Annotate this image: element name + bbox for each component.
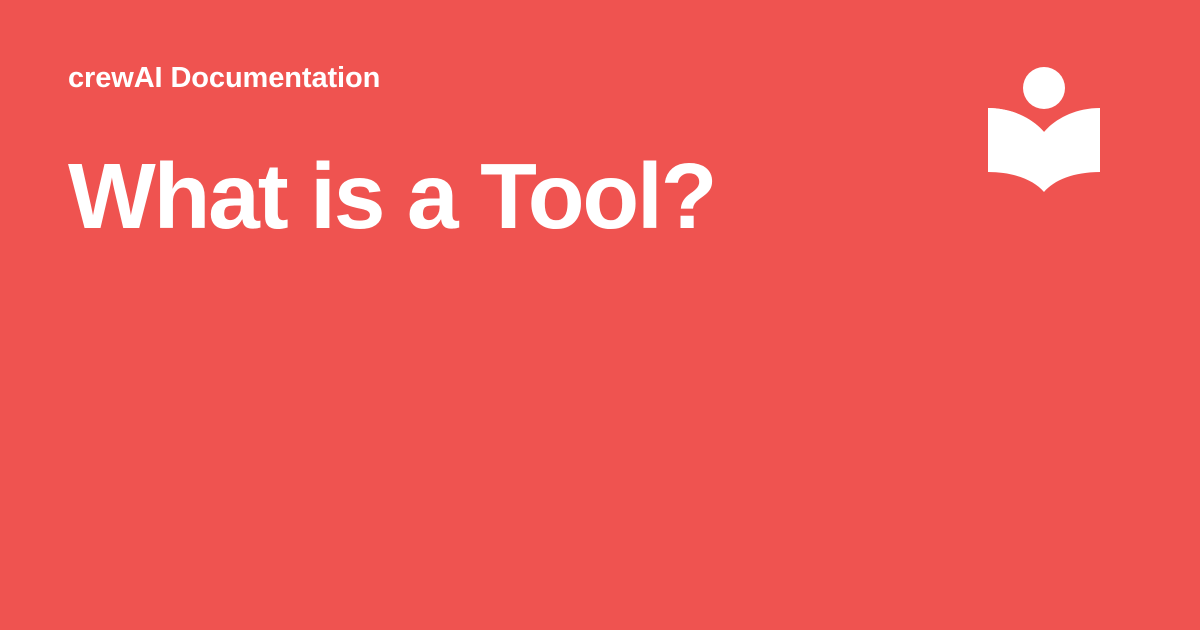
- open-book-reader-icon: [988, 66, 1100, 192]
- site-name: crewAI Documentation: [68, 62, 948, 95]
- card-content: crewAI Documentation What is a Tool?: [68, 62, 948, 246]
- reader-head-circle: [1023, 67, 1065, 109]
- book-left-page: [988, 108, 1044, 192]
- brand-logo: [988, 66, 1100, 192]
- social-card: crewAI Documentation What is a Tool?: [0, 0, 1200, 630]
- book-right-page: [1044, 108, 1100, 192]
- page-title: What is a Tool?: [68, 95, 948, 246]
